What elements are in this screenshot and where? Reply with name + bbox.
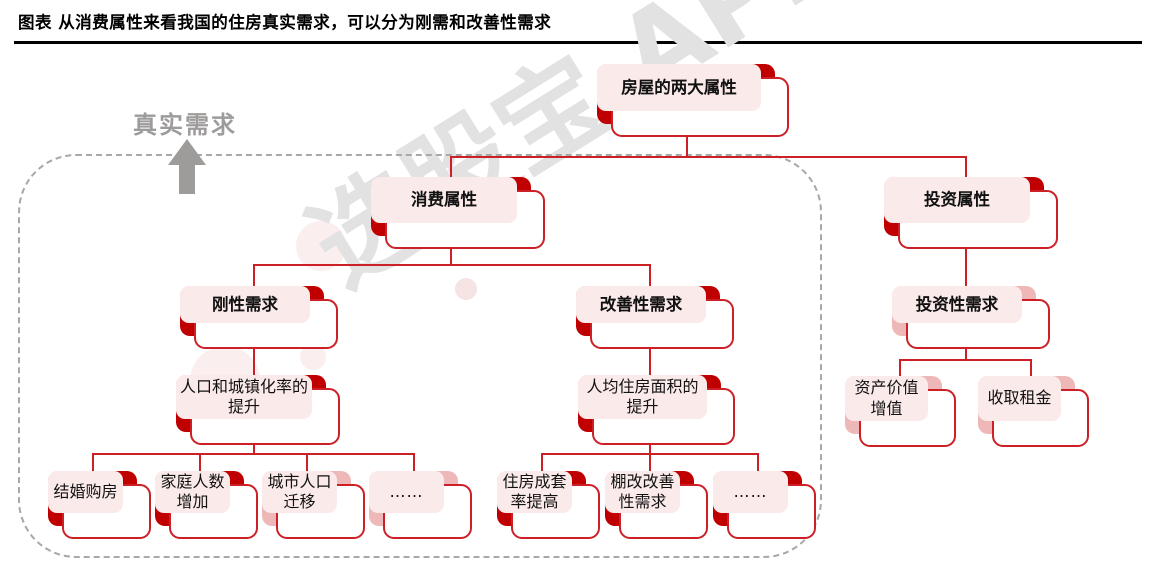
node-consumption[interactable]: 消费属性 (371, 177, 531, 236)
figure-title-bar: 图表 从消费属性来看我国的住房真实需求，可以分为刚需和改善性需求 (0, 0, 1156, 46)
node-label: 棚改改善性需求 (605, 471, 680, 513)
diagram-canvas: 选股宝 APP 真实需求 (0, 46, 1156, 568)
connector-to-improvement-demand (649, 264, 651, 286)
node-label: 家庭人数增加 (155, 471, 230, 513)
node-housing-completion-rate[interactable]: 住房成套率提高 (497, 471, 586, 526)
connector-to-consumption (450, 156, 452, 177)
connector-invdemand-bus (899, 359, 1032, 361)
real-demand-label: 真实需求 (133, 105, 237, 140)
node-urban-migration[interactable]: 城市人口迁移 (262, 471, 351, 526)
node-shantytown-renovation[interactable]: 棚改改善性需求 (605, 471, 694, 526)
node-per-capita-area[interactable]: 人均住房面积的提升 (578, 375, 721, 432)
node-label: 房屋的两大属性 (597, 64, 761, 111)
node-label: 改善性需求 (576, 286, 706, 323)
node-label: 消费属性 (371, 177, 517, 223)
connector-investment-down (965, 243, 967, 286)
title-divider (14, 41, 1142, 44)
connector-to-marriage-purchase (92, 453, 94, 471)
connector-level3-bus-left (253, 264, 650, 266)
node-label: 城市人口迁移 (262, 471, 337, 513)
node-label: …… (369, 471, 444, 513)
connector-to-asset-appreciation (899, 359, 901, 376)
node-label: 人口和城镇化率的提升 (176, 375, 312, 419)
connector-to-improvement-more (757, 453, 759, 471)
node-population-urbanization[interactable]: 人口和城镇化率的提升 (176, 375, 326, 432)
node-label: 资产价值增值 (845, 376, 928, 421)
node-improvement-demand[interactable]: 改善性需求 (576, 286, 720, 336)
node-root[interactable]: 房屋的两大属性 (597, 64, 775, 124)
node-label: 收取租金 (978, 376, 1061, 421)
page-title: 图表 从消费属性来看我国的住房真实需求，可以分为刚需和改善性需求 (18, 9, 551, 33)
connector-to-rigid-more (413, 453, 415, 471)
node-rigid-more[interactable]: …… (369, 471, 458, 526)
connector-to-investment (965, 156, 967, 177)
connector-leaf-bus-left (92, 453, 414, 455)
node-label: 刚性需求 (180, 286, 310, 323)
connector-to-shantytown (649, 453, 651, 471)
node-collect-rent[interactable]: 收取租金 (978, 376, 1075, 434)
node-label: 投资属性 (884, 177, 1030, 223)
node-label: 投资性需求 (892, 286, 1022, 323)
node-marriage-purchase[interactable]: 结婚购房 (48, 471, 137, 526)
figure-root: 图表 从消费属性来看我国的住房真实需求，可以分为刚需和改善性需求 选股宝 APP… (0, 0, 1156, 568)
node-asset-appreciation[interactable]: 资产价值增值 (845, 376, 942, 434)
node-investment-demand[interactable]: 投资性需求 (892, 286, 1036, 336)
connector-root-down (686, 137, 688, 158)
node-label: 结婚购房 (48, 471, 123, 513)
node-label: 人均住房面积的提升 (578, 375, 707, 419)
connector-level2-bus (450, 156, 967, 158)
node-investment[interactable]: 投资属性 (884, 177, 1044, 236)
connector-to-housing-rate (541, 453, 543, 471)
connector-to-collect-rent (1030, 359, 1032, 376)
node-improvement-more[interactable]: …… (713, 471, 802, 526)
node-rigid-demand[interactable]: 刚性需求 (180, 286, 324, 336)
up-arrow-icon (168, 139, 206, 194)
connector-to-rigid-demand (253, 264, 255, 286)
node-household-size[interactable]: 家庭人数增加 (155, 471, 244, 526)
connector-to-household-size (199, 453, 201, 471)
node-label: …… (713, 471, 788, 513)
connector-to-urban-migration (306, 453, 308, 471)
node-label: 住房成套率提高 (497, 471, 572, 513)
